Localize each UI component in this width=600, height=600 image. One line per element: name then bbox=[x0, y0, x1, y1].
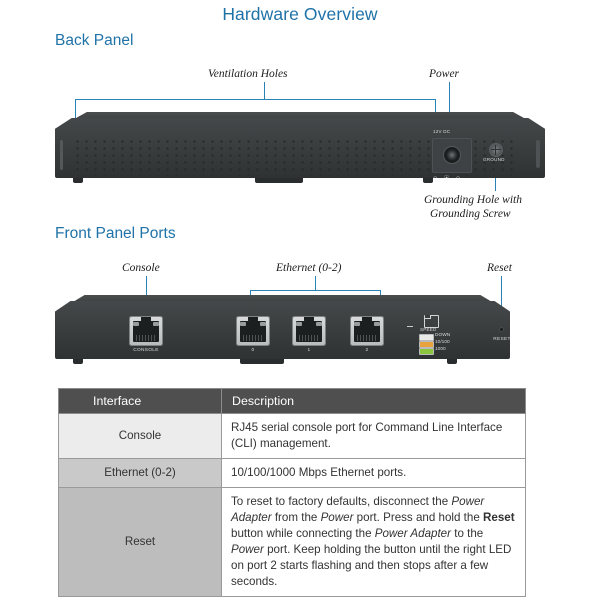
polarity-symbol-icon: ⊙—⦿—⊙ bbox=[433, 174, 461, 182]
callout-grounding-line2: Grounding Screw bbox=[430, 208, 511, 220]
port-console[interactable] bbox=[130, 317, 162, 345]
callout-console: Console bbox=[122, 262, 160, 274]
port-label-console: CONSOLE bbox=[122, 348, 170, 353]
power-jack-icon[interactable] bbox=[443, 146, 461, 164]
rj45-led-left-icon bbox=[133, 322, 139, 326]
legend-label-10-100: 10/100 bbox=[435, 340, 450, 345]
legend-dash-icon bbox=[407, 326, 413, 327]
rj45-led-right-icon bbox=[153, 322, 159, 326]
chassis-foot-left-front bbox=[73, 359, 83, 364]
rj45-tab-icon bbox=[304, 317, 314, 322]
rj45-pins-icon bbox=[243, 335, 263, 341]
rj45-pins-icon bbox=[136, 335, 156, 341]
rj45-led-left-icon bbox=[354, 322, 360, 326]
leader-line-ventilation-stem bbox=[264, 82, 265, 99]
cell-interface-reset: Reset bbox=[59, 487, 222, 596]
legend-label-1000: 1000 bbox=[435, 347, 446, 352]
chassis-foot-left bbox=[73, 178, 83, 183]
callout-ethernet: Ethernet (0-2) bbox=[276, 262, 341, 274]
legend-title: SPEED bbox=[420, 327, 437, 332]
rj45-led-right-icon bbox=[316, 322, 322, 326]
column-header-description: Description bbox=[222, 389, 526, 414]
rj45-led-left-icon bbox=[240, 322, 246, 326]
section-title-front-panel: Front Panel Ports bbox=[55, 225, 176, 243]
legend-chip-10-100-icon bbox=[419, 341, 434, 348]
back-panel-illustration: 12V DC ⊙—⦿—⊙ GROUND bbox=[55, 112, 545, 184]
table-row: Ethernet (0-2) 10/100/1000 Mbps Ethernet… bbox=[59, 458, 526, 487]
port-ethernet-2[interactable] bbox=[351, 317, 383, 345]
rj45-led-left-icon bbox=[296, 322, 302, 326]
port-ethernet-1[interactable] bbox=[293, 317, 325, 345]
legend-chip-1000-icon bbox=[419, 348, 434, 355]
rj45-pins-icon bbox=[299, 335, 319, 341]
chassis-face-front: CONSOLE 0 1 2 bbox=[55, 301, 510, 359]
callout-grounding-line1: Grounding Hole with bbox=[424, 194, 522, 206]
rj45-led-right-icon bbox=[374, 322, 380, 326]
rj45-tab-icon bbox=[141, 317, 151, 322]
leader-line-ventilation-span bbox=[75, 99, 435, 100]
legend-chip-down-icon bbox=[419, 334, 434, 341]
cell-description-ethernet: 10/100/1000 Mbps Ethernet ports. bbox=[222, 458, 526, 487]
rj45-pins-icon bbox=[357, 335, 377, 341]
front-panel-illustration: CONSOLE 0 1 2 bbox=[55, 295, 510, 367]
table-row: Reset To reset to factory defaults, disc… bbox=[59, 487, 526, 596]
chassis-foot-right-front bbox=[447, 359, 457, 364]
chassis-foot-center-front bbox=[240, 359, 284, 364]
port-ethernet-0[interactable] bbox=[237, 317, 269, 345]
callout-reset: Reset bbox=[487, 262, 512, 274]
grounding-screw-icon[interactable] bbox=[489, 143, 503, 157]
leader-line-ethernet-stem bbox=[315, 276, 316, 290]
chassis-face: 12V DC ⊙—⦿—⊙ GROUND bbox=[55, 118, 545, 178]
cell-interface-ethernet: Ethernet (0-2) bbox=[59, 458, 222, 487]
port-label-ethernet-0: 0 bbox=[237, 348, 269, 353]
callout-power: Power bbox=[429, 68, 459, 80]
port-label-ethernet-2: 2 bbox=[351, 348, 383, 353]
reset-label: RESET bbox=[487, 337, 517, 342]
rj45-tab-icon bbox=[248, 317, 258, 322]
leader-line-ethernet-span bbox=[250, 290, 380, 291]
port-label-ethernet-1: 1 bbox=[293, 348, 325, 353]
table-row: Console RJ45 serial console port for Com… bbox=[59, 414, 526, 459]
ventilation-holes-grid bbox=[73, 138, 433, 176]
section-title-back-panel: Back Panel bbox=[55, 32, 133, 50]
chassis-foot-right bbox=[423, 178, 433, 183]
column-header-interface: Interface bbox=[59, 389, 222, 414]
interface-description-table: Interface Description Console RJ45 seria… bbox=[58, 388, 526, 597]
table-header-row: Interface Description bbox=[59, 389, 526, 414]
legend-label-down: DOWN bbox=[435, 333, 450, 338]
chassis-foot-center bbox=[255, 178, 303, 183]
rj45-tab-icon bbox=[362, 317, 372, 322]
reset-button[interactable] bbox=[499, 327, 504, 332]
right-side-slot bbox=[536, 140, 540, 168]
rj45-led-right-icon bbox=[260, 322, 266, 326]
dc-input-label: 12V DC bbox=[433, 129, 450, 134]
cell-interface-console: Console bbox=[59, 414, 222, 459]
callout-ventilation-holes: Ventilation Holes bbox=[208, 68, 288, 80]
side-vent-slot bbox=[60, 140, 63, 170]
cell-description-reset: To reset to factory defaults, disconnect… bbox=[222, 487, 526, 596]
ground-label: GROUND bbox=[483, 157, 505, 162]
cell-description-console: RJ45 serial console port for Command Lin… bbox=[222, 414, 526, 459]
page-title: Hardware Overview bbox=[0, 4, 600, 25]
